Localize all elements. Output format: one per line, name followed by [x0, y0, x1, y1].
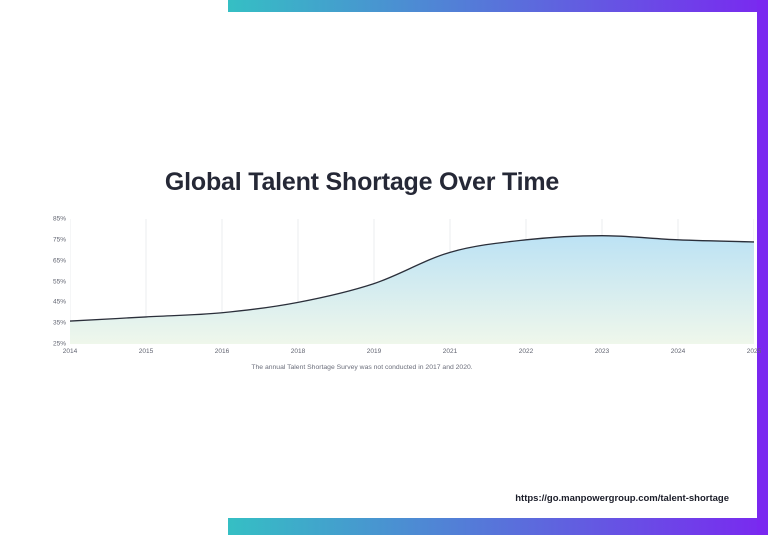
x-axis-tick-label: 2021 [443, 348, 457, 355]
area-fill [70, 236, 754, 344]
x-axis-tick-label: 2014 [63, 348, 77, 355]
y-axis-tick-label: 75% [53, 236, 66, 243]
x-axis-tick-label: 2019 [367, 348, 381, 355]
right-accent-bar [757, 0, 768, 535]
chart-footnote: The annual Talent Shortage Survey was no… [0, 364, 724, 371]
plot-area [70, 219, 754, 344]
x-axis-tick-label: 2022 [519, 348, 533, 355]
slide-canvas: Global Talent Shortage Over Time 25%35%4… [0, 0, 768, 535]
x-axis-tick-label: 2024 [671, 348, 685, 355]
page-title: Global Talent Shortage Over Time [0, 168, 724, 197]
x-axis-tick-label: 2023 [595, 348, 609, 355]
y-axis-tick-label: 25% [53, 341, 66, 348]
y-axis-tick-label: 45% [53, 299, 66, 306]
y-axis-tick-label: 55% [53, 278, 66, 285]
x-axis-tick-label: 2025 [747, 348, 761, 355]
y-axis-tick-label: 85% [53, 216, 66, 223]
area-chart-svg [70, 219, 754, 344]
top-gradient-bar [228, 0, 768, 12]
x-axis-tick-label: 2015 [139, 348, 153, 355]
x-axis-tick-label: 2018 [291, 348, 305, 355]
y-axis: 25%35%45%55%65%75%85% [34, 210, 66, 353]
x-axis-tick-label: 2016 [215, 348, 229, 355]
bottom-gradient-bar [228, 518, 768, 535]
source-url-link[interactable]: https://go.manpowergroup.com/talent-shor… [515, 493, 729, 504]
y-axis-tick-label: 65% [53, 257, 66, 264]
y-axis-tick-label: 35% [53, 320, 66, 327]
chart-container: 25%35%45%55%65%75%85% 201420152016201820… [34, 210, 734, 380]
x-axis: 2014201520162018201920212022202320242025 [70, 348, 754, 362]
